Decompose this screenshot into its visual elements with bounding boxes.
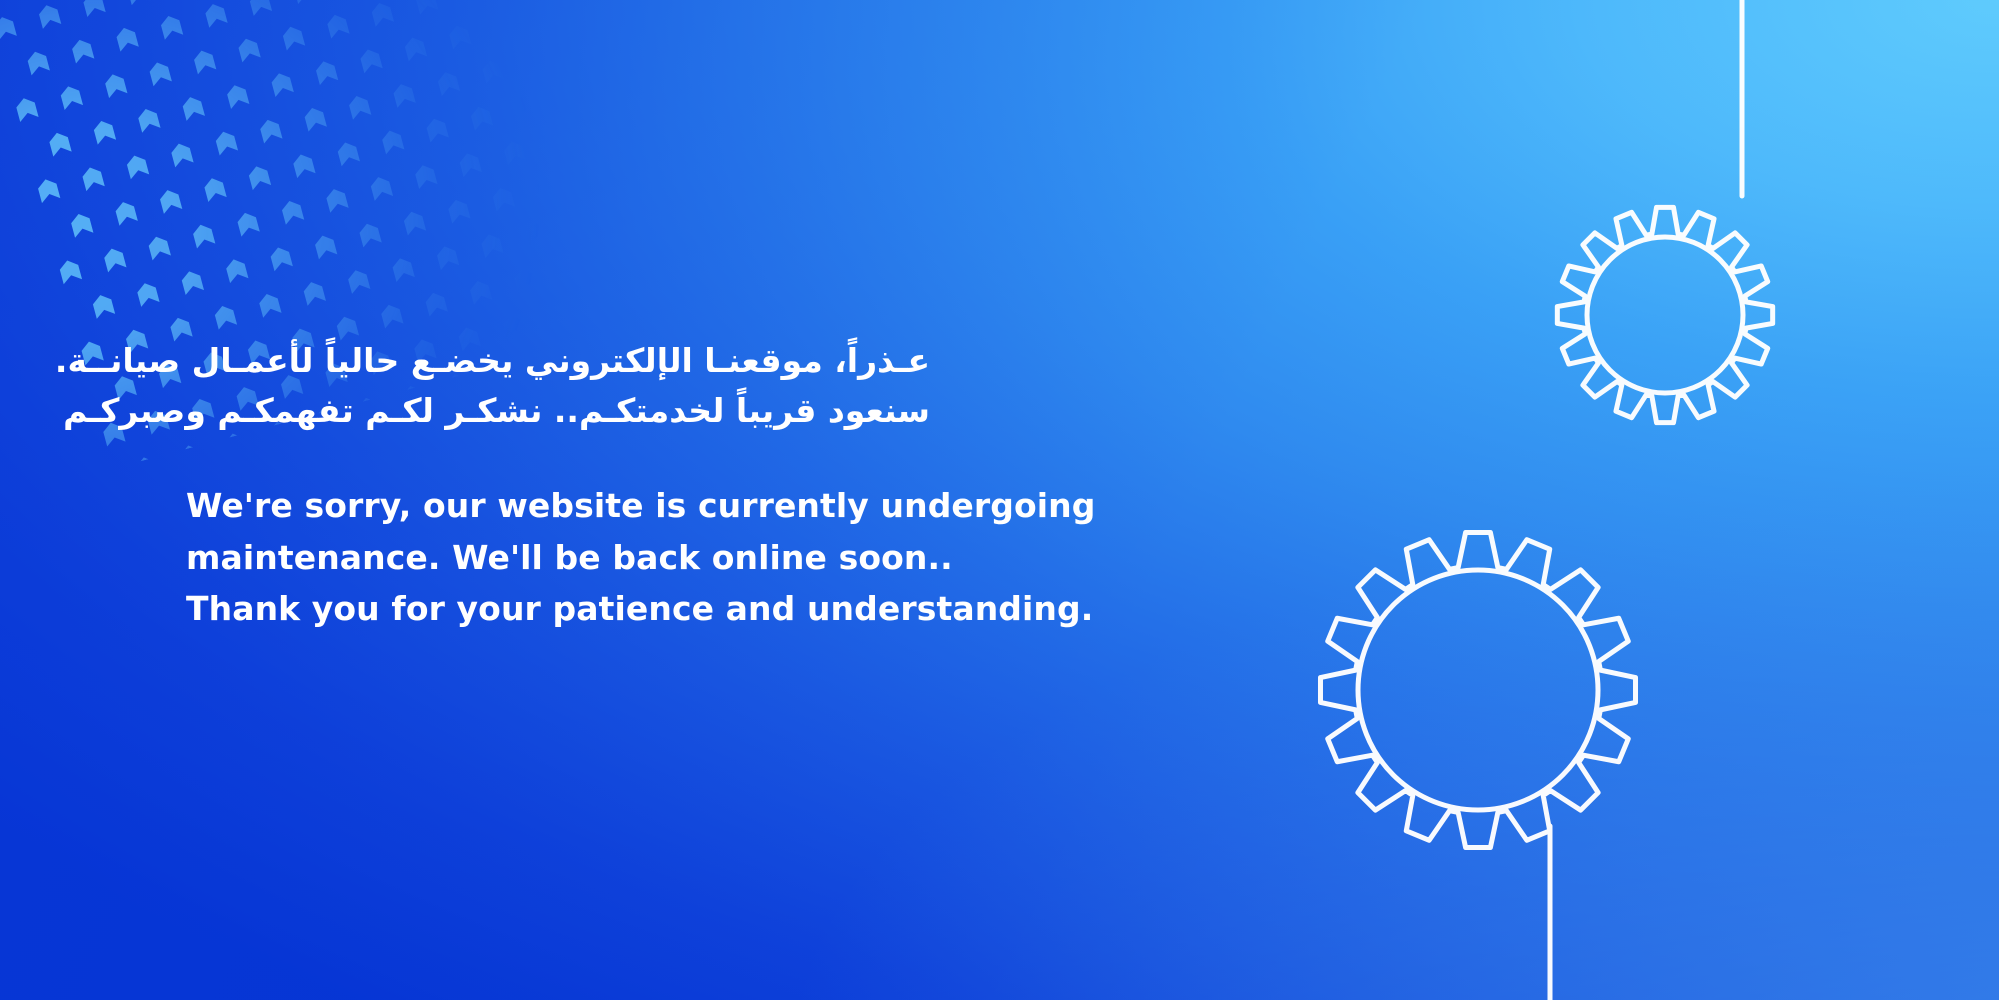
english-message: We're sorry, our website is currently un… bbox=[186, 480, 1166, 634]
english-line-1: We're sorry, our website is currently un… bbox=[186, 480, 1166, 531]
arabic-line-2: سنعود قريباً لخدمتكـم.. نشكـر لكـم تفهمك… bbox=[186, 386, 930, 436]
english-line-2: maintenance. We'll be back online soon.. bbox=[186, 532, 1166, 583]
message-block: عـذراً، موقعنـا الإلكتروني يخضـع حالياً … bbox=[186, 336, 1166, 635]
arabic-message: عـذراً، موقعنـا الإلكتروني يخضـع حالياً … bbox=[186, 336, 930, 436]
maintenance-page: عـذراً، موقعنـا الإلكتروني يخضـع حالياً … bbox=[0, 0, 1999, 1000]
arabic-line-1: عـذراً، موقعنـا الإلكتروني يخضـع حالياً … bbox=[186, 336, 930, 386]
english-line-3: Thank you for your patience and understa… bbox=[186, 583, 1166, 634]
